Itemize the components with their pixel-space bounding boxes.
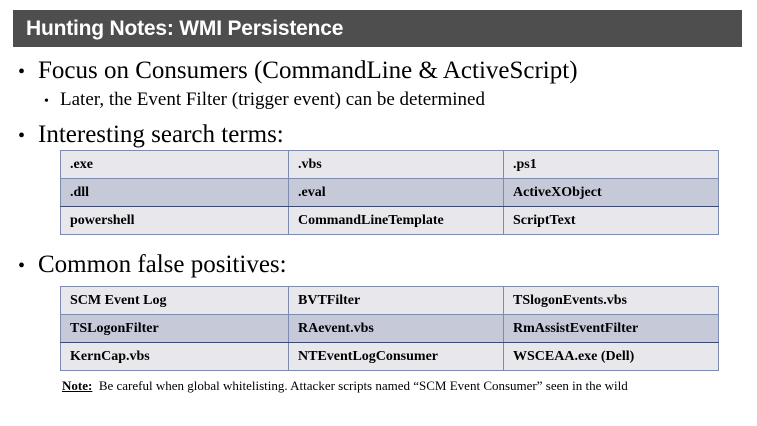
bullet-marker-icon: • (18, 256, 38, 276)
bullet-text: Focus on Consumers (CommandLine & Active… (38, 58, 578, 84)
table-row: TSLogonFilter RAevent.vbs RmAssistEventF… (61, 315, 719, 343)
bullet-text: Interesting search terms: (38, 122, 284, 148)
table-cell: .exe (61, 151, 289, 179)
false-positives-table: SCM Event Log BVTFilter TSlogonEvents.vb… (60, 286, 719, 371)
table-cell: WSCEAA.exe (Dell) (504, 343, 719, 371)
table-cell: TSlogonEvents.vbs (504, 287, 719, 315)
table-cell: RAevent.vbs (289, 315, 504, 343)
table-cell: ActiveXObject (504, 179, 719, 207)
table-cell: ScriptText (504, 207, 719, 235)
bullet-event-filter-note: • Later, the Event Filter (trigger event… (44, 90, 485, 110)
table-cell: KernCap.vbs (61, 343, 289, 371)
bullet-marker-icon: • (18, 126, 38, 146)
sub-bullet-text: Later, the Event Filter (trigger event) … (60, 90, 485, 110)
footnote: Note: Be careful when global whitelistin… (62, 378, 628, 394)
table-row: powershell CommandLineTemplate ScriptTex… (61, 207, 719, 235)
page-title: Hunting Notes: WMI Persistence (13, 17, 343, 41)
sub-bullet-marker-icon: • (44, 95, 60, 109)
footnote-label: Note: (62, 378, 92, 393)
bullet-interesting-search-terms: • Interesting search terms: (18, 122, 284, 148)
table-row: .dll .eval ActiveXObject (61, 179, 719, 207)
bullet-common-false-positives: • Common false positives: (18, 252, 287, 278)
bullet-focus-on-consumers: • Focus on Consumers (CommandLine & Acti… (18, 58, 578, 84)
footnote-text: Be careful when global whitelisting. Att… (99, 378, 628, 393)
table-cell: .ps1 (504, 151, 719, 179)
table-cell: BVTFilter (289, 287, 504, 315)
table-cell: .dll (61, 179, 289, 207)
slide-title-banner: Hunting Notes: WMI Persistence (13, 10, 742, 47)
table-cell: .vbs (289, 151, 504, 179)
table-row: KernCap.vbs NTEventLogConsumer WSCEAA.ex… (61, 343, 719, 371)
table-cell: CommandLineTemplate (289, 207, 504, 235)
bullet-marker-icon: • (18, 62, 38, 82)
table-cell: SCM Event Log (61, 287, 289, 315)
table-cell: TSLogonFilter (61, 315, 289, 343)
table-cell: .eval (289, 179, 504, 207)
table-cell: NTEventLogConsumer (289, 343, 504, 371)
bullet-text: Common false positives: (38, 252, 287, 278)
table-cell: powershell (61, 207, 289, 235)
table-row: SCM Event Log BVTFilter TSlogonEvents.vb… (61, 287, 719, 315)
table-row: .exe .vbs .ps1 (61, 151, 719, 179)
table-cell: RmAssistEventFilter (504, 315, 719, 343)
search-terms-table: .exe .vbs .ps1 .dll .eval ActiveXObject … (60, 150, 719, 235)
